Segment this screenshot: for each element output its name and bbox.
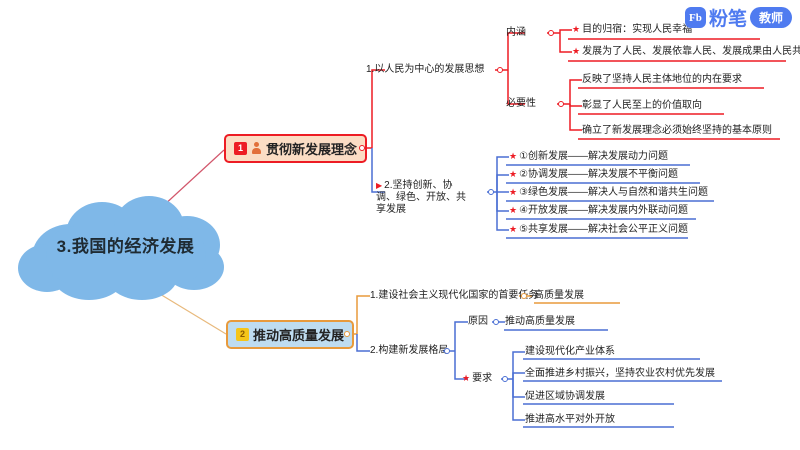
leaf-item[interactable]: 推进高水平对外开放 [525,413,615,426]
branch-node-concept-label: 贯彻新发展理念 [266,139,357,158]
star-icon: ★ [509,169,517,179]
leaf-text: ③绿色发展——解决人与自然和谐共生问题 [519,187,708,198]
star-icon: ★ [509,224,517,234]
leaf-item[interactable]: ★②协调发展——解决发展不平衡问题 [509,168,678,181]
collapse-dot[interactable] [493,319,499,325]
node-five-concepts-label: 2.坚持创新、协调、绿色、开放、共享发展 [376,180,466,215]
collapse-dot[interactable] [359,145,365,151]
leaf-text: 反映了坚持人民主体地位的内在要求 [582,74,742,85]
star-icon: ★ [572,46,580,56]
branch-node-quality-label: 推动高质量发展 [253,325,344,344]
leaf-item[interactable]: 彰显了人民至上的价值取向 [582,99,702,112]
leaf-item[interactable]: ★④开放发展——解决发展内外联动问题 [509,204,688,217]
branch-node-concept[interactable]: 1 贯彻新发展理念 [224,134,367,163]
root-label: 3.我国的经济发展 [18,232,233,257]
collapse-dot[interactable] [497,67,503,73]
node-requirements[interactable]: ★要求 [462,372,492,385]
node-reason[interactable]: 原因 [468,315,488,328]
leaf-text: 发展为了人民、发展依靠人民、发展成果由人民共享 [582,46,800,57]
brand-subtitle: 教师 [750,7,792,28]
star-icon: ★ [509,187,517,197]
collapse-dot[interactable] [502,376,508,382]
leaf-item[interactable]: ★发展为了人民、发展依靠人民、发展成果由人民共享 [572,45,800,58]
leaf-item[interactable]: 推动高质量发展 [505,315,575,328]
leaf-text: 推动高质量发展 [505,316,575,327]
leaf-item[interactable]: ★目的归宿：实现人民幸福 [572,23,692,36]
leaf-text: 目的归宿：实现人民幸福 [582,24,692,35]
node-five-concepts[interactable]: ▶2.坚持创新、协调、绿色、开放、共享发展 [376,180,468,216]
leaf-text: 促进区域协调发展 [525,391,605,402]
leaf-text: 彰显了人民至上的价值取向 [582,100,702,111]
leaf-text: ②协调发展——解决发展不平衡问题 [519,169,678,180]
leaf-text: 推进高水平对外开放 [525,414,615,425]
collapse-dot[interactable] [344,331,350,337]
leaf-item[interactable]: 全面推进乡村振兴，坚持农业农村优先发展 [525,367,715,380]
root-cloud-node[interactable]: 3.我国的经济发展 [18,196,233,301]
leaf-text: 确立了新发展理念必须始终坚持的基本原则 [582,125,772,136]
mindmap-canvas: 3.我国的经济发展 1 贯彻新发展理念 2 推动高质量发展 1.以人民为中心的发… [0,0,800,450]
collapse-dot[interactable] [558,101,564,107]
leaf-item[interactable]: 建设现代化产业体系 [525,345,615,358]
collapse-dot[interactable] [488,189,494,195]
node-connotation[interactable]: 内涵 [506,26,526,39]
leaf-item[interactable]: 确立了新发展理念必须始终坚持的基本原则 [582,124,772,137]
brand-name: 粉笔 [709,4,747,31]
triangle-icon: ▶ [376,181,382,190]
collapse-dot[interactable] [444,348,450,354]
leaf-text: 全面推进乡村振兴，坚持农业农村优先发展 [525,368,715,379]
node-requirements-label: 要求 [472,373,492,384]
leaf-item[interactable]: ★③绿色发展——解决人与自然和谐共生问题 [509,186,708,199]
leaf-text: ⑤共享发展——解决社会公平正义问题 [519,224,688,235]
branch-node-quality[interactable]: 2 推动高质量发展 [226,320,354,349]
star-icon: ★ [509,151,517,161]
leaf-text: 高质量发展 [534,290,584,301]
fenbi-mark-icon: Fb [685,7,706,28]
node-primary-task[interactable]: 1.建设社会主义现代化国家的首要任务 [370,289,538,302]
collapse-dot[interactable] [521,293,527,299]
star-icon: ★ [572,24,580,34]
leaf-item[interactable]: 高质量发展 [534,289,584,302]
brand-logo: Fb 粉笔 教师 [685,4,792,31]
leaf-text: ④开放发展——解决发展内外联动问题 [519,205,688,216]
badge-1: 1 [234,142,247,155]
leaf-item[interactable]: ★⑤共享发展——解决社会公平正义问题 [509,223,688,236]
star-icon: ★ [509,205,517,215]
badge-2: 2 [236,328,249,341]
node-people-centered[interactable]: 1.以人民为中心的发展思想 [366,63,484,76]
collapse-dot[interactable] [548,30,554,36]
leaf-text: ①创新发展——解决发展动力问题 [519,151,668,162]
leaf-text: 建设现代化产业体系 [525,346,615,357]
node-necessity[interactable]: 必要性 [506,97,536,110]
person-icon [251,142,262,155]
leaf-item[interactable]: 反映了坚持人民主体地位的内在要求 [582,73,742,86]
leaf-item[interactable]: ★①创新发展——解决发展动力问题 [509,150,668,163]
leaf-item[interactable]: 促进区域协调发展 [525,390,605,403]
node-new-pattern[interactable]: 2.构建新发展格局 [370,344,448,357]
star-icon: ★ [462,373,470,383]
